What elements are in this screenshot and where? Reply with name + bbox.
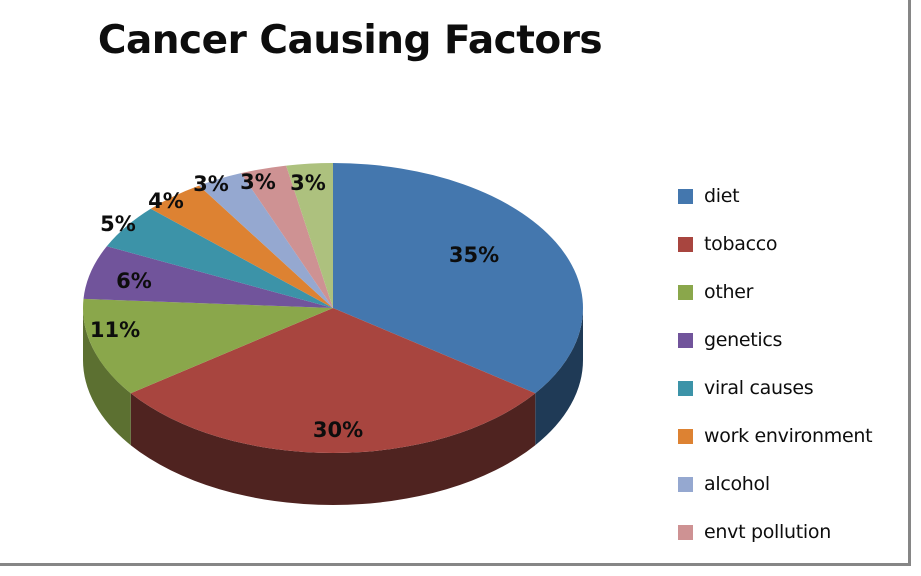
legend-item[interactable]: work environment bbox=[678, 412, 908, 460]
legend-item[interactable]: other bbox=[678, 268, 908, 316]
legend-color-swatch bbox=[678, 285, 693, 300]
legend-color-swatch bbox=[678, 237, 693, 252]
legend-item-label: alcohol bbox=[704, 473, 770, 495]
legend-item-label: envt pollution bbox=[704, 521, 831, 543]
legend-item-label: genetics bbox=[704, 329, 782, 351]
chart-canvas: Cancer Causing Factors 35%30%11%6%5%4%3%… bbox=[0, 0, 921, 576]
legend-item-label: diet bbox=[704, 185, 739, 207]
legend-item[interactable]: diet bbox=[678, 172, 908, 220]
legend-color-swatch bbox=[678, 477, 693, 492]
legend-color-swatch bbox=[678, 429, 693, 444]
legend-item[interactable]: alcohol bbox=[678, 460, 908, 508]
legend-item-label: other bbox=[704, 281, 753, 303]
legend-item[interactable]: genetics bbox=[678, 316, 908, 364]
legend-item-label: tobacco bbox=[704, 233, 777, 255]
legend-color-swatch bbox=[678, 381, 693, 396]
legend-color-swatch bbox=[678, 333, 693, 348]
legend-color-swatch bbox=[678, 525, 693, 540]
legend-item-label: viral causes bbox=[704, 377, 813, 399]
frame-border-bottom bbox=[0, 563, 911, 566]
pie-plot-area: 35%30%11%6%5%4%3%3%3% bbox=[55, 150, 655, 550]
legend-color-swatch bbox=[678, 189, 693, 204]
pie-chart-graphic bbox=[55, 150, 655, 550]
legend-item[interactable]: tobacco bbox=[678, 220, 908, 268]
legend-item[interactable]: envt pollution bbox=[678, 508, 908, 556]
chart-title: Cancer Causing Factors bbox=[0, 18, 700, 63]
legend-item[interactable]: viral causes bbox=[678, 364, 908, 412]
chart-legend: diettobaccoothergeneticsviral causeswork… bbox=[678, 172, 908, 556]
frame-border-right bbox=[908, 0, 911, 566]
pie-slices bbox=[83, 163, 583, 453]
legend-item-label: work environment bbox=[704, 425, 872, 447]
